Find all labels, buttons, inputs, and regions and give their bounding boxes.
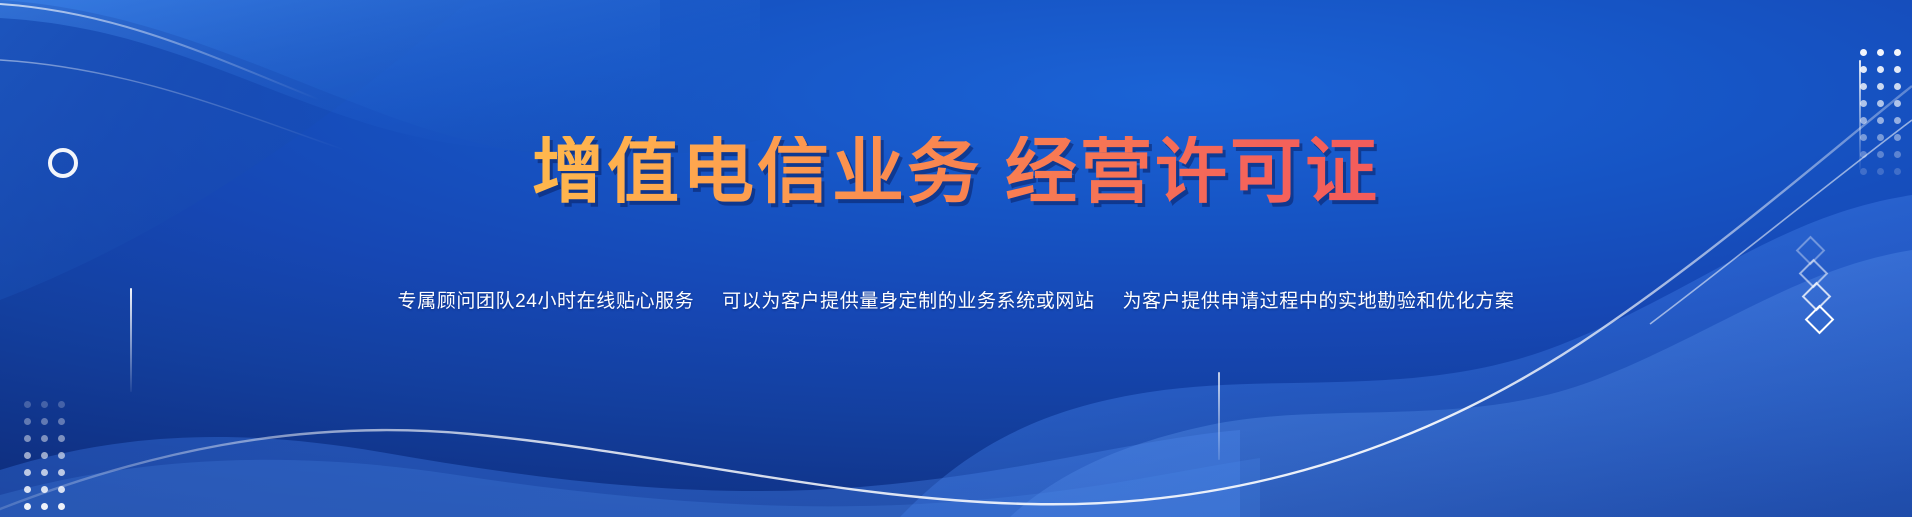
page-title: 增值电信业务 经营许可证: [0, 136, 1912, 208]
promo-banner: 增值电信业务 经营许可证 专属顾问团队24小时在线贴心服务 可以为客户提供量身定…: [0, 0, 1912, 517]
banner-subtitle: 专属顾问团队24小时在线贴心服务 可以为客户提供量身定制的业务系统或网站 为客户…: [0, 286, 1912, 313]
dot-grid-bottom-left: [20, 396, 71, 517]
subtitle-segment-3: 为客户提供申请过程中的实地勘验和优化方案: [1122, 291, 1514, 312]
background-waves: [0, 0, 1912, 517]
subtitle-segment-1: 专属顾问团队24小时在线贴心服务: [398, 291, 695, 312]
subtitle-segment-2: 可以为客户提供量身定制的业务系统或网站: [722, 291, 1094, 312]
accent-line-bottom: [1218, 372, 1220, 460]
